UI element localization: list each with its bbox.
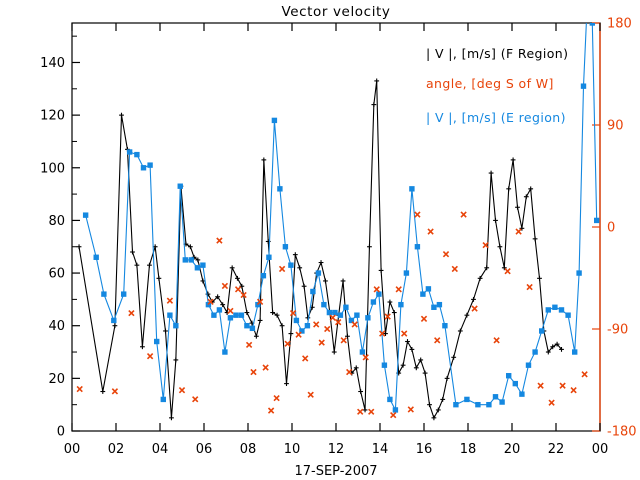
data-point xyxy=(245,324,249,328)
data-point xyxy=(122,292,126,296)
data-point xyxy=(94,255,98,259)
marker-square xyxy=(148,163,152,167)
x-tick-label: 12 xyxy=(328,442,345,457)
marker-square xyxy=(83,213,87,217)
data-point xyxy=(235,276,240,281)
data-point xyxy=(316,271,320,275)
marker-square xyxy=(94,255,98,259)
data-point xyxy=(371,102,376,107)
marker-square xyxy=(595,218,599,222)
data-layer xyxy=(77,0,599,420)
series-line-e_region xyxy=(86,0,597,410)
data-point xyxy=(540,329,544,333)
y-tick-label: 120 xyxy=(40,109,65,124)
data-point xyxy=(428,229,433,234)
marker-square xyxy=(178,184,182,188)
data-point xyxy=(195,266,199,270)
data-point xyxy=(323,279,328,284)
data-point xyxy=(511,157,516,162)
data-point xyxy=(188,244,193,249)
data-point xyxy=(341,338,346,343)
data-point xyxy=(228,316,232,320)
marker-square xyxy=(322,302,326,306)
data-point xyxy=(119,113,124,118)
data-point xyxy=(465,313,470,318)
marker-square xyxy=(327,310,331,314)
data-point xyxy=(363,355,368,360)
marker-square xyxy=(234,313,238,317)
data-point xyxy=(167,298,172,303)
data-point xyxy=(377,292,381,296)
data-point xyxy=(178,184,182,188)
marker-square xyxy=(426,287,430,291)
data-point xyxy=(513,381,517,385)
data-point xyxy=(458,329,463,334)
data-point xyxy=(269,408,274,413)
marker-square xyxy=(344,305,348,309)
data-point xyxy=(289,263,293,267)
marker-square xyxy=(245,324,249,328)
data-point xyxy=(498,244,503,249)
marker-square xyxy=(239,313,243,317)
data-point xyxy=(201,263,205,267)
data-point xyxy=(236,287,241,292)
data-point xyxy=(432,415,437,420)
data-point xyxy=(526,363,530,367)
marker-square xyxy=(540,329,544,333)
data-point xyxy=(113,323,118,328)
data-point xyxy=(285,341,290,346)
marker-square xyxy=(174,324,178,328)
data-point xyxy=(284,381,289,386)
marker-square xyxy=(566,313,570,317)
data-point xyxy=(533,350,537,354)
data-point xyxy=(573,350,577,354)
marker-square xyxy=(272,118,276,122)
data-point xyxy=(100,389,105,394)
data-point xyxy=(435,338,440,343)
data-point xyxy=(148,354,153,359)
data-point xyxy=(77,244,82,249)
marker-square xyxy=(112,318,116,322)
marker-square xyxy=(573,350,577,354)
data-point xyxy=(239,313,243,317)
data-point xyxy=(410,187,414,191)
x-tick-label: 10 xyxy=(284,442,301,457)
marker-square xyxy=(168,313,172,317)
y2-tick-label: -90 xyxy=(607,323,628,338)
data-point xyxy=(421,292,425,296)
data-point xyxy=(296,332,301,337)
data-point xyxy=(401,363,406,368)
data-point xyxy=(347,369,352,374)
data-point xyxy=(538,383,543,388)
marker-square xyxy=(377,292,381,296)
x-tick-label: 06 xyxy=(196,442,213,457)
data-point xyxy=(297,265,302,270)
data-point xyxy=(174,324,178,328)
data-point xyxy=(367,244,372,249)
data-point xyxy=(443,252,448,257)
data-point xyxy=(471,297,476,302)
marker-square xyxy=(102,292,106,296)
x-tick-label: 04 xyxy=(152,442,169,457)
marker-square xyxy=(371,300,375,304)
data-point xyxy=(414,365,419,370)
data-point xyxy=(155,339,159,343)
data-point xyxy=(77,386,82,391)
x-axis-label: 17-SEP-2007 xyxy=(294,464,377,479)
marker-square xyxy=(443,324,447,328)
data-point xyxy=(437,302,441,306)
data-point xyxy=(333,310,337,314)
data-point xyxy=(141,166,145,170)
data-point xyxy=(291,311,296,316)
data-point xyxy=(341,279,346,284)
data-point xyxy=(258,318,263,323)
data-point xyxy=(250,326,254,330)
data-point xyxy=(454,402,458,406)
data-point xyxy=(527,284,532,289)
data-point xyxy=(147,263,152,268)
marker-square xyxy=(513,381,517,385)
data-point xyxy=(311,289,315,293)
chart-canvas: Vector velocity020406080100120140-180-90… xyxy=(0,0,640,480)
y-tick-label: 20 xyxy=(48,372,65,387)
data-point xyxy=(305,315,310,320)
data-point xyxy=(392,310,397,315)
data-point xyxy=(445,376,450,381)
data-point xyxy=(393,408,397,412)
x-tick-label: 00 xyxy=(592,442,609,457)
data-point xyxy=(546,308,550,312)
x-tick-label: 18 xyxy=(460,442,477,457)
data-point xyxy=(402,331,407,336)
data-point xyxy=(571,388,576,393)
data-point xyxy=(549,400,554,405)
data-point xyxy=(382,363,386,367)
data-point xyxy=(500,400,504,404)
data-point xyxy=(358,409,363,414)
marker-square xyxy=(289,263,293,267)
data-point xyxy=(374,79,379,84)
data-point xyxy=(360,350,364,354)
data-point xyxy=(267,255,271,259)
data-point xyxy=(415,245,419,249)
data-point xyxy=(396,287,401,292)
data-point xyxy=(230,265,235,270)
data-point xyxy=(528,186,533,191)
data-point xyxy=(261,273,265,277)
marker-square xyxy=(316,271,320,275)
data-point xyxy=(418,358,423,363)
data-point xyxy=(507,374,511,378)
data-point xyxy=(130,250,135,255)
marker-square xyxy=(559,308,563,312)
data-point xyxy=(506,186,511,191)
marker-square xyxy=(155,339,159,343)
marker-square xyxy=(223,350,227,354)
data-point xyxy=(421,316,426,321)
marker-square xyxy=(388,397,392,401)
data-point xyxy=(363,408,368,413)
y-axis-right: -180-90090180 xyxy=(592,17,637,440)
marker-square xyxy=(228,316,232,320)
data-point xyxy=(314,322,319,327)
marker-square xyxy=(577,271,581,275)
marker-square xyxy=(581,84,585,88)
data-point xyxy=(308,392,313,397)
data-point xyxy=(408,407,413,412)
data-point xyxy=(163,329,168,334)
series-e_region xyxy=(83,0,598,412)
marker-square xyxy=(393,408,397,412)
data-point xyxy=(366,316,370,320)
y-tick-label: 80 xyxy=(48,214,65,229)
marker-square xyxy=(487,402,491,406)
data-point xyxy=(494,338,499,343)
data-point xyxy=(223,350,227,354)
data-point xyxy=(148,163,152,167)
data-point xyxy=(388,300,393,305)
marker-square xyxy=(135,152,139,156)
marker-square xyxy=(189,258,193,262)
data-point xyxy=(595,218,599,222)
marker-square xyxy=(533,350,537,354)
series-angle xyxy=(77,212,587,418)
marker-square xyxy=(122,292,126,296)
data-point xyxy=(245,310,250,315)
marker-square xyxy=(305,324,309,328)
marker-square xyxy=(195,266,199,270)
data-point xyxy=(559,308,563,312)
data-point xyxy=(399,302,403,306)
data-point xyxy=(581,84,585,88)
data-point xyxy=(423,371,428,376)
data-point xyxy=(515,205,520,210)
x-tick-label: 16 xyxy=(416,442,433,457)
data-point xyxy=(283,245,287,249)
data-point xyxy=(369,409,374,414)
data-point xyxy=(476,402,480,406)
data-point xyxy=(278,187,282,191)
y-tick-label: 40 xyxy=(48,319,65,334)
marker-square xyxy=(355,313,359,317)
data-point xyxy=(140,344,145,349)
data-point xyxy=(489,171,494,176)
data-point xyxy=(303,356,308,361)
data-point xyxy=(577,271,581,275)
data-point xyxy=(322,302,326,306)
data-point xyxy=(168,313,172,317)
marker-square xyxy=(437,302,441,306)
marker-square xyxy=(333,310,337,314)
marker-square xyxy=(500,400,504,404)
marker-square xyxy=(432,305,436,309)
data-point xyxy=(212,313,216,317)
data-point xyxy=(537,276,542,281)
marker-square xyxy=(399,302,403,306)
data-point xyxy=(189,258,193,262)
marker-square xyxy=(415,245,419,249)
x-tick-label: 08 xyxy=(240,442,257,457)
y-tick-label: 140 xyxy=(40,56,65,71)
data-point xyxy=(169,415,174,420)
marker-square xyxy=(278,187,282,191)
data-point xyxy=(161,397,165,401)
marker-square xyxy=(267,255,271,259)
y2-tick-label: 90 xyxy=(607,119,624,134)
marker-square xyxy=(493,395,497,399)
x-tick-label: 00 xyxy=(64,442,81,457)
y-axis-left: 020406080100120140 xyxy=(40,36,80,439)
data-point xyxy=(135,152,139,156)
data-point xyxy=(391,413,396,418)
marker-square xyxy=(465,397,469,401)
data-point xyxy=(294,318,298,322)
data-point xyxy=(520,392,524,396)
data-point xyxy=(452,266,457,271)
data-point xyxy=(129,311,134,316)
marker-square xyxy=(250,326,254,330)
data-point xyxy=(410,347,415,352)
data-point xyxy=(83,213,87,217)
y-tick-label: 100 xyxy=(40,161,65,176)
data-point xyxy=(319,340,324,345)
data-point xyxy=(566,313,570,317)
data-point xyxy=(432,305,436,309)
data-point xyxy=(173,358,178,363)
data-point xyxy=(228,308,233,313)
marker-square xyxy=(366,316,370,320)
data-point xyxy=(217,308,221,312)
data-point xyxy=(272,118,276,122)
series-f_region xyxy=(77,79,564,421)
marker-square xyxy=(410,187,414,191)
marker-square xyxy=(217,308,221,312)
marker-square xyxy=(283,245,287,249)
x-tick-label: 14 xyxy=(372,442,389,457)
data-point xyxy=(560,383,565,388)
marker-square xyxy=(476,402,480,406)
data-point xyxy=(371,300,375,304)
data-point xyxy=(358,389,363,394)
y-tick-label: 0 xyxy=(57,425,65,440)
data-point xyxy=(234,313,238,317)
marker-square xyxy=(421,292,425,296)
marker-square xyxy=(141,166,145,170)
data-point xyxy=(451,355,456,360)
data-point xyxy=(263,365,268,370)
marker-square xyxy=(212,313,216,317)
chart-title: Vector velocity xyxy=(281,4,390,20)
data-point xyxy=(533,236,538,241)
data-point xyxy=(325,326,330,331)
data-point xyxy=(440,397,445,402)
marker-square xyxy=(360,350,364,354)
marker-square xyxy=(382,363,386,367)
data-point xyxy=(553,305,557,309)
data-point xyxy=(179,388,184,393)
data-point xyxy=(302,284,307,289)
y2-tick-label: 180 xyxy=(607,17,632,32)
marker-square xyxy=(338,313,342,317)
data-point xyxy=(217,238,222,243)
data-point xyxy=(112,318,116,322)
data-point xyxy=(319,260,324,265)
marker-square xyxy=(161,397,165,401)
marker-square xyxy=(526,363,530,367)
x-axis: 00020406081012141618202200 xyxy=(64,23,609,457)
data-point xyxy=(183,258,187,262)
data-point xyxy=(493,218,498,223)
data-point xyxy=(193,397,198,402)
y2-tick-label: 0 xyxy=(607,221,615,236)
marker-square xyxy=(454,402,458,406)
marker-square xyxy=(553,305,557,309)
data-point xyxy=(461,212,466,217)
marker-square xyxy=(261,273,265,277)
data-point xyxy=(355,313,359,317)
data-point xyxy=(270,310,275,315)
x-tick-label: 22 xyxy=(548,442,565,457)
data-point xyxy=(352,322,357,327)
x-tick-label: 02 xyxy=(108,442,125,457)
marker-square xyxy=(520,392,524,396)
data-point xyxy=(222,283,227,288)
data-point xyxy=(388,397,392,401)
marker-square xyxy=(404,271,408,275)
data-point xyxy=(344,305,348,309)
plot-frame xyxy=(72,23,600,431)
x-tick-label: 20 xyxy=(504,442,521,457)
data-point xyxy=(472,306,477,311)
data-point xyxy=(524,194,529,199)
data-point xyxy=(374,287,379,292)
data-point xyxy=(280,323,285,328)
data-point xyxy=(405,339,410,344)
data-point xyxy=(404,271,408,275)
data-point xyxy=(274,396,279,401)
data-point xyxy=(135,263,140,268)
data-point xyxy=(590,21,594,25)
data-point xyxy=(426,287,430,291)
marker-square xyxy=(311,289,315,293)
marker-square xyxy=(546,308,550,312)
data-point xyxy=(415,212,420,217)
data-point xyxy=(261,157,266,162)
data-point xyxy=(493,395,497,399)
marker-square xyxy=(201,263,205,267)
data-point xyxy=(443,324,447,328)
marker-square xyxy=(294,318,298,322)
data-point xyxy=(280,266,285,271)
data-point xyxy=(505,269,510,274)
data-point xyxy=(254,334,259,339)
marker-square xyxy=(127,150,131,154)
marker-square xyxy=(183,258,187,262)
y2-tick-label: -180 xyxy=(607,425,637,440)
data-point xyxy=(157,276,162,281)
data-point xyxy=(127,150,131,154)
data-point xyxy=(289,331,294,336)
vector-velocity-chart: Vector velocity020406080100120140-180-90… xyxy=(0,0,640,480)
data-point xyxy=(305,324,309,328)
data-point xyxy=(275,313,280,318)
data-point xyxy=(436,408,441,413)
data-point xyxy=(112,389,117,394)
series-line-f_region xyxy=(79,81,561,418)
